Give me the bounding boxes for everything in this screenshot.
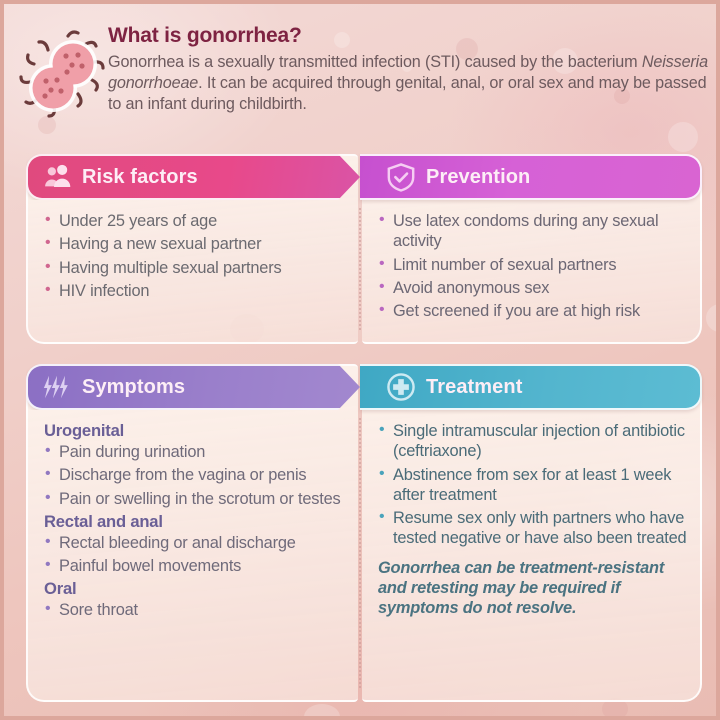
panel-title-prevention: Prevention xyxy=(426,166,530,189)
panel-prevention: Prevention Use latex condoms during any … xyxy=(362,154,702,344)
panel-body-treatment: Single intramuscular injection of antibi… xyxy=(362,410,700,629)
list-item: Discharge from the vagina or penis xyxy=(44,465,346,485)
list-item: Under 25 years of age xyxy=(44,211,346,231)
panel-header-risk-factors[interactable]: Risk factors xyxy=(26,154,360,200)
panel-header-prevention[interactable]: Prevention xyxy=(360,154,702,200)
shield-check-icon xyxy=(386,162,416,192)
list-item: Having a new sexual partner xyxy=(44,234,346,254)
panel-body-prevention: Use latex condoms during any sexual acti… xyxy=(362,200,700,334)
panel-title-treatment: Treatment xyxy=(426,376,523,399)
list-item: Avoid anonymous sex xyxy=(378,278,688,298)
panel-header-treatment[interactable]: Treatment xyxy=(360,364,702,410)
list-item: Use latex condoms during any sexual acti… xyxy=(378,211,688,252)
panel-title-symptoms: Symptoms xyxy=(82,376,185,399)
prevention-list: Use latex condoms during any sexual acti… xyxy=(378,211,688,321)
panel-row-one: Risk factors Under 25 years of age Havin… xyxy=(26,154,702,344)
panel-symptoms: Symptoms Urogenital Pain during urinatio… xyxy=(26,364,358,702)
intro-block: What is gonorrhea? Gonorrhea is a sexual… xyxy=(4,4,720,129)
panel-divider xyxy=(359,418,361,688)
intro-text-part2: . It can be acquired through genital, an… xyxy=(108,74,706,113)
panel-title-risk-factors: Risk factors xyxy=(82,166,198,189)
page-title: What is gonorrhea? xyxy=(108,24,708,48)
symptoms-group-heading: Rectal and anal xyxy=(44,512,346,532)
symptoms-group-heading: Oral xyxy=(44,579,346,599)
list-item: Resume sex only with partners who have t… xyxy=(378,508,688,549)
lightning-bolts-icon xyxy=(42,372,72,402)
list-item: Get screened if you are at high risk xyxy=(378,301,688,321)
treatment-note: Gonorrhea can be treatment-resistant and… xyxy=(378,558,688,619)
symptoms-urogenital-list: Pain during urination Discharge from the… xyxy=(44,442,346,509)
list-item: Pain or swelling in the scrotum or teste… xyxy=(44,489,346,509)
panel-header-symptoms[interactable]: Symptoms xyxy=(26,364,360,410)
background-blob xyxy=(706,304,720,332)
symptoms-rectal-anal-list: Rectal bleeding or anal discharge Painfu… xyxy=(44,533,346,577)
panel-body-symptoms: Urogenital Pain during urination Dischar… xyxy=(28,410,358,634)
list-item: Limit number of sexual partners xyxy=(378,255,688,275)
panel-risk-factors: Risk factors Under 25 years of age Havin… xyxy=(26,154,358,344)
panel-treatment: Treatment Single intramuscular injection… xyxy=(362,364,702,702)
list-item: Pain during urination xyxy=(44,442,346,462)
list-item: Abstinence from sex for at least 1 week … xyxy=(378,465,688,506)
treatment-list: Single intramuscular injection of antibi… xyxy=(378,421,688,549)
list-item: Rectal bleeding or anal discharge xyxy=(44,533,346,553)
panel-divider xyxy=(359,208,361,330)
medical-cross-circle-icon xyxy=(386,372,416,402)
risk-factors-list: Under 25 years of age Having a new sexua… xyxy=(44,211,346,301)
infographic-canvas: What is gonorrhea? Gonorrhea is a sexual… xyxy=(0,0,720,720)
panel-row-two: Symptoms Urogenital Pain during urinatio… xyxy=(26,364,702,702)
list-item: Painful bowel movements xyxy=(44,556,346,576)
symptoms-group-heading: Urogenital xyxy=(44,421,346,441)
panel-body-risk-factors: Under 25 years of age Having a new sexua… xyxy=(28,200,358,314)
list-item: Single intramuscular injection of antibi… xyxy=(378,421,688,462)
list-item: Having multiple sexual partners xyxy=(44,258,346,278)
background-blob xyxy=(304,704,340,720)
two-people-icon xyxy=(42,162,72,192)
intro-paragraph: Gonorrhea is a sexually transmitted infe… xyxy=(108,52,708,115)
intro-text-part1: Gonorrhea is a sexually transmitted infe… xyxy=(108,53,642,71)
list-item: Sore throat xyxy=(44,600,346,620)
list-item: HIV infection xyxy=(44,281,346,301)
symptoms-oral-list: Sore throat xyxy=(44,600,346,620)
